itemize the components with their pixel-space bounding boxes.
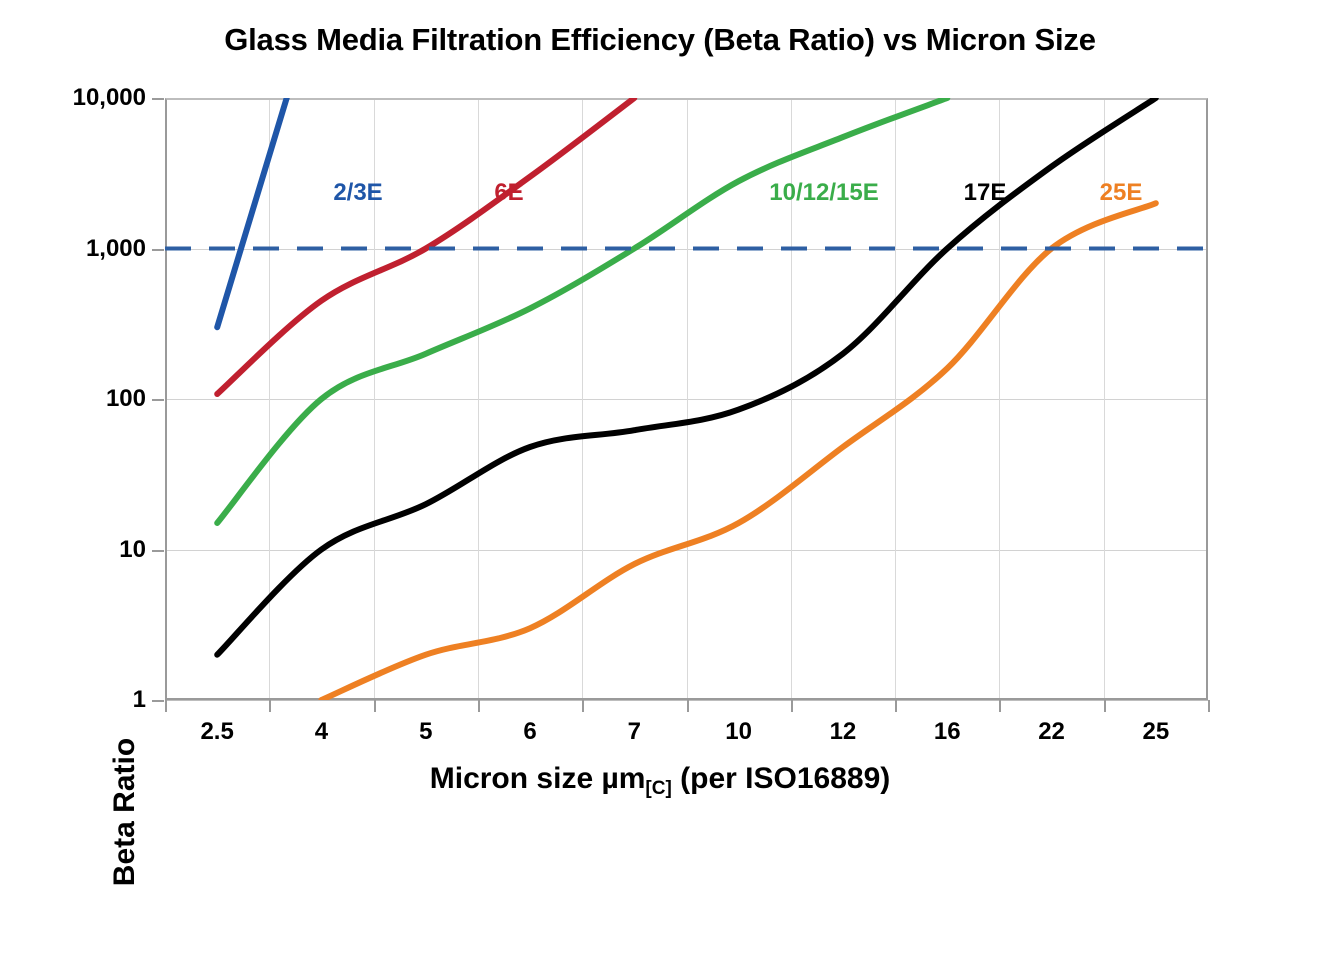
x-axis-title-main: Micron size µm [430, 762, 646, 795]
x-axis-title-tail: (per ISO16889) [672, 762, 890, 795]
series-label-17E: 17E [964, 179, 1007, 207]
series-label-2-3E: 2/3E [333, 179, 382, 207]
series-label-10-12-15E: 10/12/15E [769, 179, 878, 207]
series-label-25E: 25E [1100, 179, 1143, 207]
reference-line-1000 [0, 0, 1320, 820]
chart-canvas: Glass Media Filtration Efficiency (Beta … [0, 0, 1320, 820]
x-axis-title-subscript: [C] [645, 778, 671, 799]
series-label-6E: 6E [494, 179, 523, 207]
x-axis-title: Micron size µm[C] (per ISO16889) [0, 762, 1320, 800]
